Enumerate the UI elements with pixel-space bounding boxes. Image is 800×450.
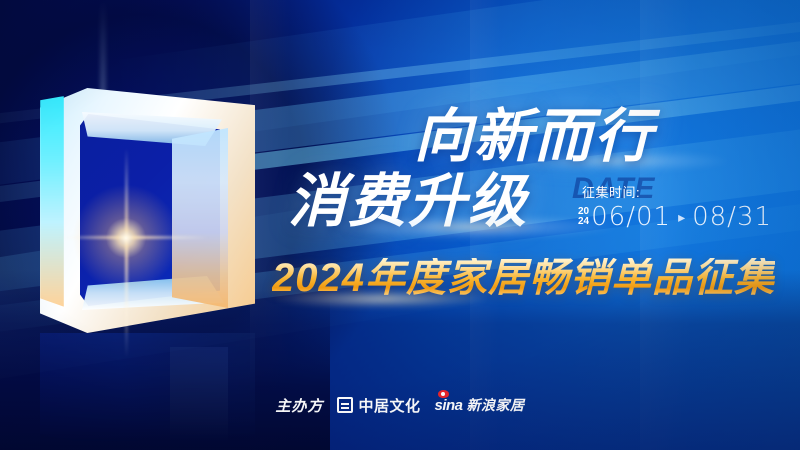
sponsor-zhongju-label: 中居文化 [358, 395, 420, 416]
sina-eye-shape [438, 390, 449, 398]
date-start: 06/01 [591, 202, 671, 232]
background-panel-1 [250, 0, 290, 450]
sina-wordmark: sina [435, 397, 463, 414]
date-label: 征集时间: [582, 182, 640, 201]
date-range-row: 20 24 06/01 ▸ 08/31 [578, 202, 772, 232]
promo-banner: 向新而行 消费升级 DATE 征集时间: 20 24 06/01 ▸ 08/31… [0, 0, 800, 450]
door-ray-vertical [125, 148, 128, 358]
date-year-bottom: 24 [578, 217, 589, 227]
portal-door-graphic [40, 88, 255, 333]
footer-sponsors: 主办方 中居文化 sina 新浪家居 [0, 390, 800, 420]
sponsor-sina-label: 新浪家居 [467, 395, 525, 415]
door-left-edge [40, 96, 64, 307]
date-separator-icon: ▸ [678, 209, 685, 226]
date-end: 08/31 [692, 202, 772, 232]
campaign-subtitle: 2024年度家居畅销单品征集 [272, 258, 775, 298]
sponsor-sina-logo: sina 新浪家居 [435, 395, 525, 415]
sponsor-zhongju-logo: 中居文化 [337, 395, 420, 416]
headline-line-1: 向新而行 [414, 108, 654, 166]
zhongju-mark-icon [337, 397, 353, 413]
door-reflection [40, 333, 255, 443]
door-ray-horizontal [58, 236, 208, 239]
headline-line-2: 消费升级 [288, 173, 528, 231]
date-block: DATE 征集时间: 20 24 06/01 ▸ 08/31 [568, 176, 768, 234]
sina-eye-icon: sina [435, 397, 463, 414]
door-panel [172, 128, 228, 308]
door-reflection-body [40, 333, 255, 443]
date-year-stacked: 20 24 [578, 207, 589, 227]
organizer-label: 主办方 [275, 395, 323, 416]
